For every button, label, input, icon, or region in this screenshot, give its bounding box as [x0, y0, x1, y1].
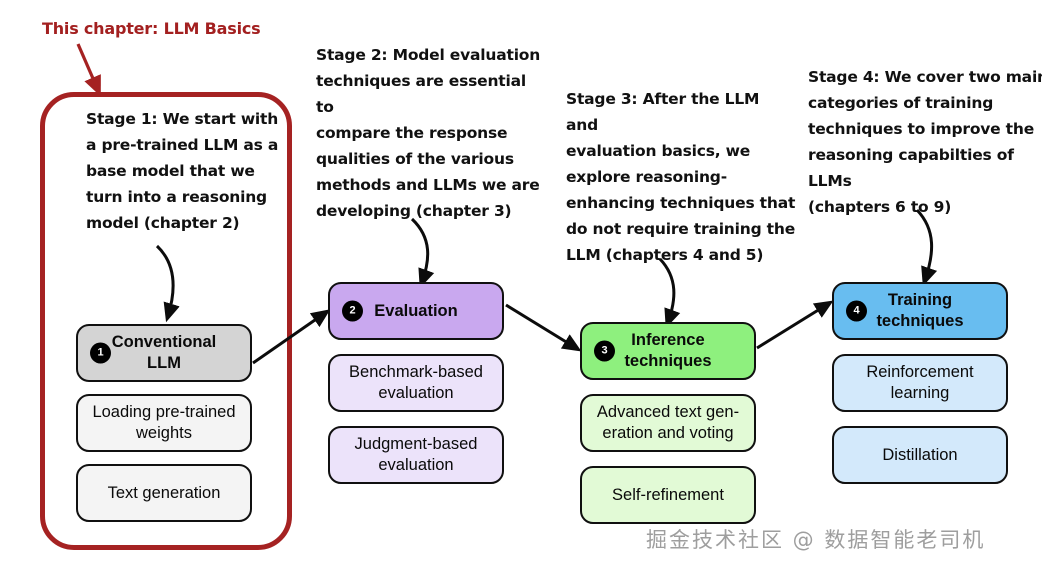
node-judgment-based-evaluation[interactable]: Judgment-based evaluation	[328, 426, 504, 484]
caption-line: categories of training	[808, 90, 1042, 116]
caption-line: Stage 2: Model evaluation	[316, 42, 546, 68]
stage-2-to-3-arrow	[506, 305, 576, 348]
stage-3-badge: 3	[594, 341, 615, 362]
stage-2-badge: 2	[342, 301, 363, 322]
stage-3-curve-arrow	[660, 259, 674, 322]
node-label: Training techniques	[876, 290, 963, 332]
caption-line: methods and LLMs we are	[316, 172, 546, 198]
caption-line: reasoning capabilties of LLMs	[808, 142, 1042, 194]
stage-3-caption: Stage 3: After the LLM and evaluation ba…	[566, 86, 796, 268]
stage-1-badge: 1	[90, 343, 111, 364]
caption-line: evaluation basics, we	[566, 138, 796, 164]
stage-1-caption: Stage 1: We start with a pre-trained LLM…	[86, 106, 286, 236]
node-label: Text generation	[108, 483, 221, 504]
node-label: Evaluation	[374, 301, 457, 322]
caption-line: model (chapter 2)	[86, 210, 286, 236]
caption-line: Stage 1: We start with	[86, 106, 286, 132]
stage-4-curve-arrow	[917, 210, 932, 280]
caption-line: (chapters 6 to 9)	[808, 194, 1042, 220]
watermark-text: 掘金技术社区 @ 数据智能老司机	[646, 524, 985, 554]
node-label: Benchmark-based evaluation	[349, 362, 483, 404]
node-label: Reinforcement learning	[866, 362, 973, 404]
caption-line: do not require training the	[566, 216, 796, 242]
chapter-annotation: This chapter: LLM Basics	[42, 16, 260, 42]
caption-line: LLM (chapters 4 and 5)	[566, 242, 796, 268]
node-label: Inference techniques	[624, 330, 711, 372]
node-training-techniques[interactable]: 4 Training techniques	[832, 282, 1008, 340]
stage-2-caption: Stage 2: Model evaluation techniques are…	[316, 42, 546, 224]
node-label: Distillation	[882, 445, 957, 466]
caption-line: explore reasoning-	[566, 164, 796, 190]
caption-line: enhancing techniques that	[566, 190, 796, 216]
chapter-pointer-arrow	[78, 44, 98, 90]
node-advanced-text-generation-voting[interactable]: Advanced text gen- eration and voting	[580, 394, 756, 452]
caption-line: techniques are essential to	[316, 68, 546, 120]
node-label: Advanced text gen- eration and voting	[597, 402, 739, 444]
caption-line: base model that we	[86, 158, 286, 184]
node-loading-pretrained-weights[interactable]: Loading pre-trained weights	[76, 394, 252, 452]
node-benchmark-based-evaluation[interactable]: Benchmark-based evaluation	[328, 354, 504, 412]
caption-line: techniques to improve the	[808, 116, 1042, 142]
node-label: Conventional LLM	[112, 332, 217, 374]
stage-3-to-4-arrow	[757, 304, 828, 348]
stage-2-curve-arrow	[412, 219, 428, 282]
caption-line: Stage 3: After the LLM and	[566, 86, 796, 138]
node-self-refinement[interactable]: Self-refinement	[580, 466, 756, 524]
caption-line: a pre-trained LLM as a	[86, 132, 286, 158]
node-conventional-llm[interactable]: 1 Conventional LLM	[76, 324, 252, 382]
node-inference-techniques[interactable]: 3 Inference techniques	[580, 322, 756, 380]
node-label: Self-refinement	[612, 485, 724, 506]
node-label: Judgment-based evaluation	[355, 434, 478, 476]
node-text-generation[interactable]: Text generation	[76, 464, 252, 522]
caption-line: developing (chapter 3)	[316, 198, 546, 224]
caption-line: Stage 4: We cover two main	[808, 64, 1042, 90]
diagram-canvas: This chapter: LLM Basics Stage 1: We sta…	[0, 0, 1042, 573]
stage-4-badge: 4	[846, 301, 867, 322]
node-reinforcement-learning[interactable]: Reinforcement learning	[832, 354, 1008, 412]
node-evaluation[interactable]: 2 Evaluation	[328, 282, 504, 340]
stage-4-caption: Stage 4: We cover two main categories of…	[808, 64, 1042, 220]
caption-line: qualities of the various	[316, 146, 546, 172]
caption-line: compare the response	[316, 120, 546, 146]
node-label: Loading pre-trained weights	[92, 402, 235, 444]
node-distillation[interactable]: Distillation	[832, 426, 1008, 484]
caption-line: turn into a reasoning	[86, 184, 286, 210]
